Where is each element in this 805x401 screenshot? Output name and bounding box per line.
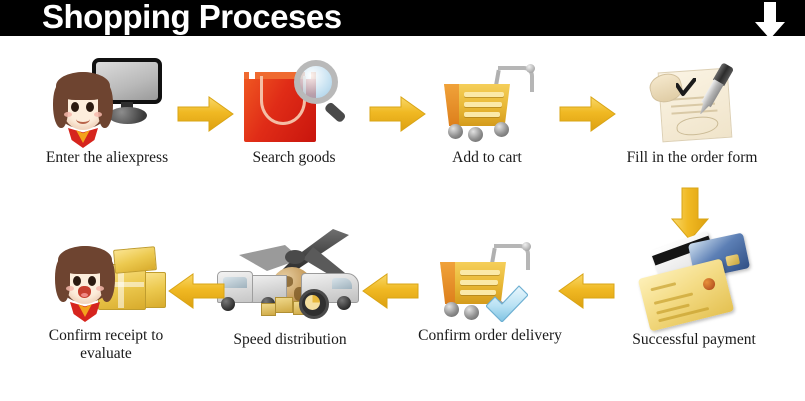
- step-label-confirm-receipt: Confirm receipt to evaluate: [14, 327, 198, 363]
- girl-avatar-icon: [52, 70, 114, 148]
- step-successful-payment[interactable]: Successful payment: [596, 232, 792, 349]
- header-bar: Shopping Proceses: [0, 0, 805, 36]
- clock-icon: [299, 289, 329, 319]
- step-confirm-receipt[interactable]: Confirm receipt to evaluate: [14, 228, 198, 363]
- blue-check-badge-icon: [486, 284, 528, 322]
- step-label-search-goods: Search goods: [203, 149, 385, 167]
- step-label-add-to-cart: Add to cart: [398, 149, 576, 167]
- step-confirm-order-delivery[interactable]: Confirm order delivery: [396, 228, 584, 345]
- girl-with-parcels-icon: [14, 228, 198, 320]
- step-label-speed-distribution: Speed distribution: [205, 331, 375, 349]
- step-add-to-cart[interactable]: Add to cart: [398, 50, 576, 167]
- step-search-goods[interactable]: Search goods: [203, 50, 385, 167]
- process-flow: Enter the aliexpress: [0, 36, 805, 401]
- step-label-successful-payment: Successful payment: [596, 331, 792, 349]
- cart-check-icon: [396, 228, 584, 320]
- header-down-arrow-icon: [752, 2, 788, 40]
- step-speed-distribution[interactable]: Speed distribution: [205, 224, 375, 349]
- shopping-cart-icon: [398, 50, 576, 142]
- step-enter-aliexpress[interactable]: Enter the aliexpress: [12, 50, 202, 167]
- step-fill-order-form[interactable]: Fill in the order form: [592, 50, 792, 167]
- step-label-fill-order-form: Fill in the order form: [592, 149, 792, 167]
- step-label-enter-aliexpress: Enter the aliexpress: [12, 149, 202, 167]
- page-title: Shopping Proceses: [42, 0, 342, 36]
- girl-happy-avatar-icon: [54, 244, 116, 322]
- shopping-process-infographic: Shopping Proceses: [0, 0, 805, 401]
- credit-cards-icon: [596, 232, 792, 324]
- plane-truck-globe-icon: [205, 224, 375, 324]
- girl-at-computer-icon: [12, 50, 202, 142]
- shopping-bag-magnifier-icon: [203, 50, 385, 142]
- order-form-pen-icon: [592, 50, 792, 142]
- step-label-confirm-order-delivery: Confirm order delivery: [396, 327, 584, 345]
